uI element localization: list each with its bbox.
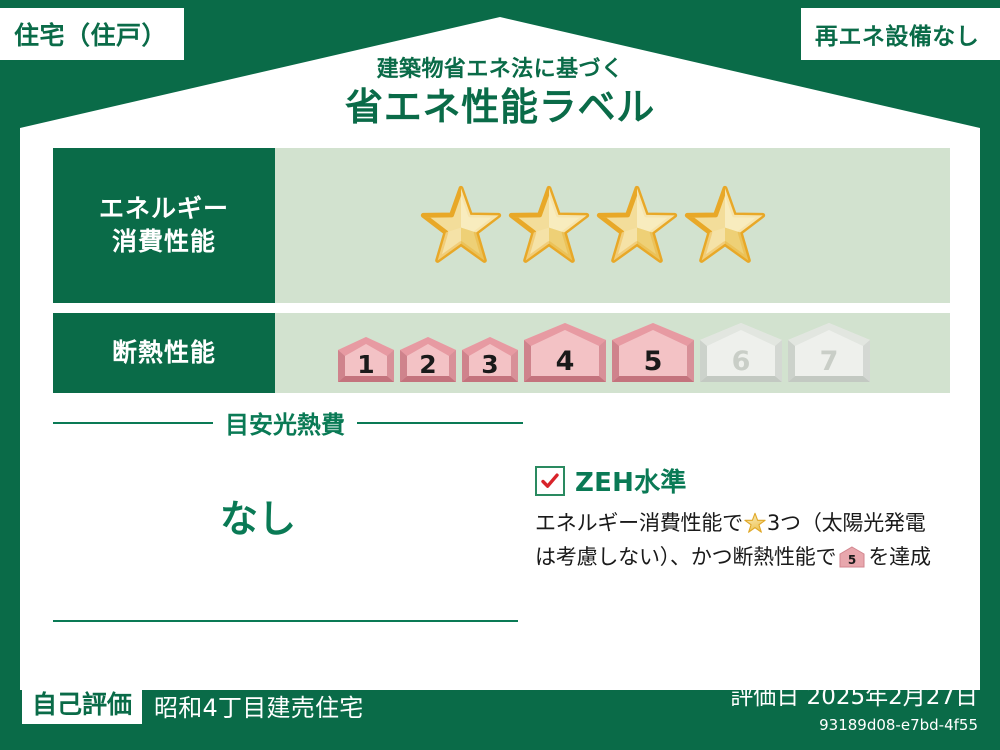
row-insulation-label: 断熱性能 <box>53 313 275 393</box>
insulation-step: 4 <box>521 321 609 385</box>
insulation-step: 2 <box>397 335 459 385</box>
heading-rule-right <box>357 422 523 424</box>
house-shape-icon <box>609 321 697 385</box>
utility-cost-section: 目安光熱費 なし <box>53 405 523 543</box>
insulation-badge-inline: 5 <box>839 546 865 576</box>
footer-left: 自己評価 昭和4丁目建売住宅 <box>22 688 363 724</box>
zeh-header: ZEH水準 <box>535 462 960 499</box>
row-energy-label-line1: エネルギー <box>99 193 229 226</box>
star-icon <box>684 185 766 267</box>
zeh-checkbox[interactable] <box>535 466 565 496</box>
self-evaluation-badge: 自己評価 <box>22 688 142 724</box>
label-id: 93189d08-e7bd-4f55 <box>730 714 978 737</box>
utility-cost-heading-label: 目安光熱費 <box>225 405 345 440</box>
house-shape-icon <box>335 335 397 385</box>
cost-divider <box>53 620 518 622</box>
insulation-step: 3 <box>459 335 521 385</box>
zeh-desc-part1: エネルギー消費性能で <box>535 511 743 535</box>
house-shape-icon <box>785 321 873 385</box>
row-energy-label-line2: 消費性能 <box>112 226 216 259</box>
inline-badge-number: 5 <box>848 553 856 567</box>
insulation-step: 5 <box>609 321 697 385</box>
zeh-desc-part3: は考慮しない）、かつ断熱性能で <box>535 545 836 569</box>
tag-renewable-energy: 再エネ設備なし <box>801 8 1000 60</box>
star-icon-inline <box>744 512 766 542</box>
title-block: 建築物省エネ法に基づく 省エネ性能ラベル <box>0 58 1000 132</box>
house-shape-icon <box>459 335 521 385</box>
title-subtitle: 建築物省エネ法に基づく <box>0 58 1000 82</box>
row-insulation-performance: 断熱性能 1234567 <box>53 313 950 393</box>
zeh-description: エネルギー消費性能で 3つ（太陽光発電 は考慮しない）、かつ断熱性能で 5 を達… <box>535 508 960 577</box>
zeh-title: ZEH水準 <box>575 462 687 499</box>
zeh-desc-part4: を達成 <box>868 545 930 569</box>
house-shape-icon <box>397 335 459 385</box>
row-energy-value <box>275 148 950 303</box>
evaluation-date: 評価日 2025年2月27日 <box>730 684 978 712</box>
row-energy-label: エネルギー 消費性能 <box>53 148 275 303</box>
tag-housing-type: 住宅（住戸） <box>0 8 184 60</box>
utility-cost-heading: 目安光熱費 <box>53 405 523 440</box>
energy-performance-label: 住宅（住戸） 再エネ設備なし 建築物省エネ法に基づく 省エネ性能ラベル エネルギ… <box>0 0 1000 750</box>
star-icon <box>596 185 678 267</box>
insulation-step: 7 <box>785 321 873 385</box>
row-insulation-value: 1234567 <box>275 313 950 393</box>
insulation-scale: 1234567 <box>335 321 873 385</box>
star-icon <box>420 185 502 267</box>
zeh-desc-part2: 3つ（太陽光発電 <box>767 511 926 535</box>
house-shape-icon <box>697 321 785 385</box>
insulation-step: 1 <box>335 335 397 385</box>
utility-cost-value: なし <box>53 488 523 543</box>
zeh-section: ZEH水準 エネルギー消費性能で 3つ（太陽光発電 は考慮しない）、かつ断熱性能… <box>535 462 960 577</box>
footer-right: 評価日 2025年2月27日 93189d08-e7bd-4f55 <box>730 684 978 736</box>
tag-renewable-energy-label: 再エネ設備なし <box>815 17 979 51</box>
tag-housing-type-label: 住宅（住戸） <box>14 16 167 52</box>
star-rating <box>420 185 766 267</box>
footer: 自己評価 昭和4丁目建売住宅 評価日 2025年2月27日 93189d08-e… <box>0 670 1000 750</box>
row-energy-performance: エネルギー 消費性能 <box>53 148 950 303</box>
heading-rule-left <box>53 422 213 424</box>
house-shape-icon <box>521 321 609 385</box>
insulation-step: 6 <box>697 321 785 385</box>
page-title: 省エネ性能ラベル <box>0 84 1000 132</box>
check-icon <box>540 471 560 491</box>
row-insulation-label-text: 断熱性能 <box>112 337 216 370</box>
building-name: 昭和4丁目建売住宅 <box>154 688 363 723</box>
star-icon <box>508 185 590 267</box>
